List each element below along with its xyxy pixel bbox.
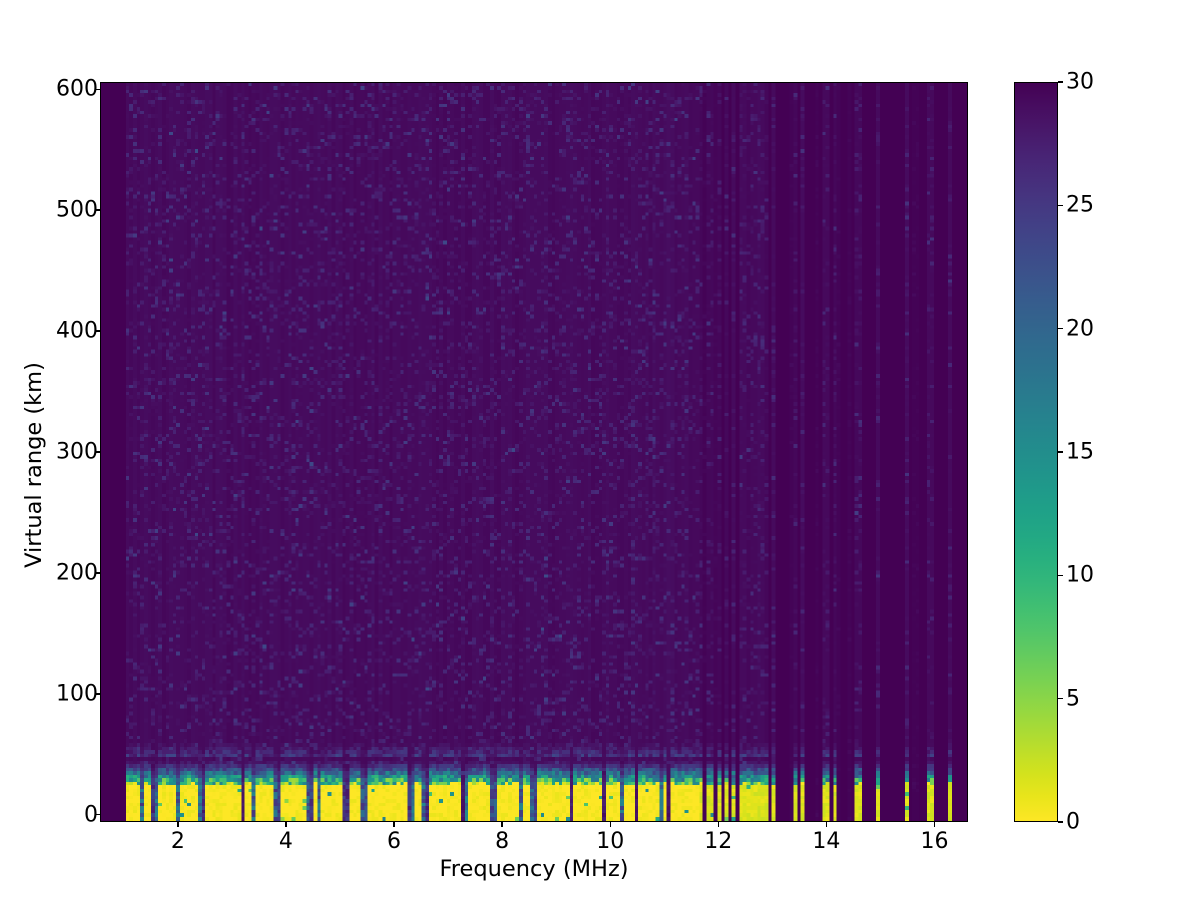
x-tick-mark (177, 822, 178, 827)
colorbar-tick-mark (1058, 575, 1063, 576)
x-tick-label: 14 (812, 829, 840, 854)
colorbar-tick-mark (1058, 698, 1063, 699)
y-tick-label: 400 (56, 319, 98, 344)
x-tick-label: 10 (596, 829, 624, 854)
x-tick-mark (285, 822, 286, 827)
x-tick-label: 4 (279, 829, 293, 854)
colorbar-tick-label: 0 (1066, 810, 1080, 835)
y-tick-label: 0 (84, 802, 98, 827)
colorbar-tick-label: 20 (1066, 316, 1094, 341)
x-tick-label: 16 (920, 829, 948, 854)
y-tick-label: 500 (56, 198, 98, 223)
ionogram-heatmap (101, 83, 967, 821)
colorbar-tick-label: 15 (1066, 440, 1094, 465)
y-tick-label: 200 (56, 560, 98, 585)
x-tick-mark (934, 822, 935, 827)
x-tick-mark (718, 822, 719, 827)
colorbar-tick-label: 5 (1066, 686, 1080, 711)
colorbar-tick-mark (1058, 821, 1063, 822)
y-tick-label: 300 (56, 440, 98, 465)
ionogram-figure: IRF Kiruna Ionosonde KI167 2025-11-16 04… (0, 0, 1200, 900)
colorbar (1014, 82, 1058, 822)
heatmap-axes (100, 82, 968, 822)
y-axis-label: Virtual range (km) (21, 95, 47, 835)
x-tick-label: 12 (704, 829, 732, 854)
colorbar-tick-mark (1058, 328, 1063, 329)
x-tick-mark (501, 822, 502, 827)
x-tick-label: 2 (171, 829, 185, 854)
colorbar-tick-mark (1058, 205, 1063, 206)
x-tick-mark (826, 822, 827, 827)
y-tick-label: 600 (56, 77, 98, 102)
colorbar-tick-label: 10 (1066, 563, 1094, 588)
y-tick-label: 100 (56, 681, 98, 706)
x-tick-label: 8 (495, 829, 509, 854)
x-tick-label: 6 (387, 829, 401, 854)
colorbar-tick-mark (1058, 451, 1063, 452)
x-tick-mark (393, 822, 394, 827)
x-axis-label: Frequency (MHz) (100, 856, 968, 882)
colorbar-tick-mark (1058, 81, 1063, 82)
colorbar-tick-label: 30 (1066, 70, 1094, 95)
colorbar-tick-label: 25 (1066, 193, 1094, 218)
colorbar-gradient (1015, 83, 1057, 821)
x-tick-mark (610, 822, 611, 827)
